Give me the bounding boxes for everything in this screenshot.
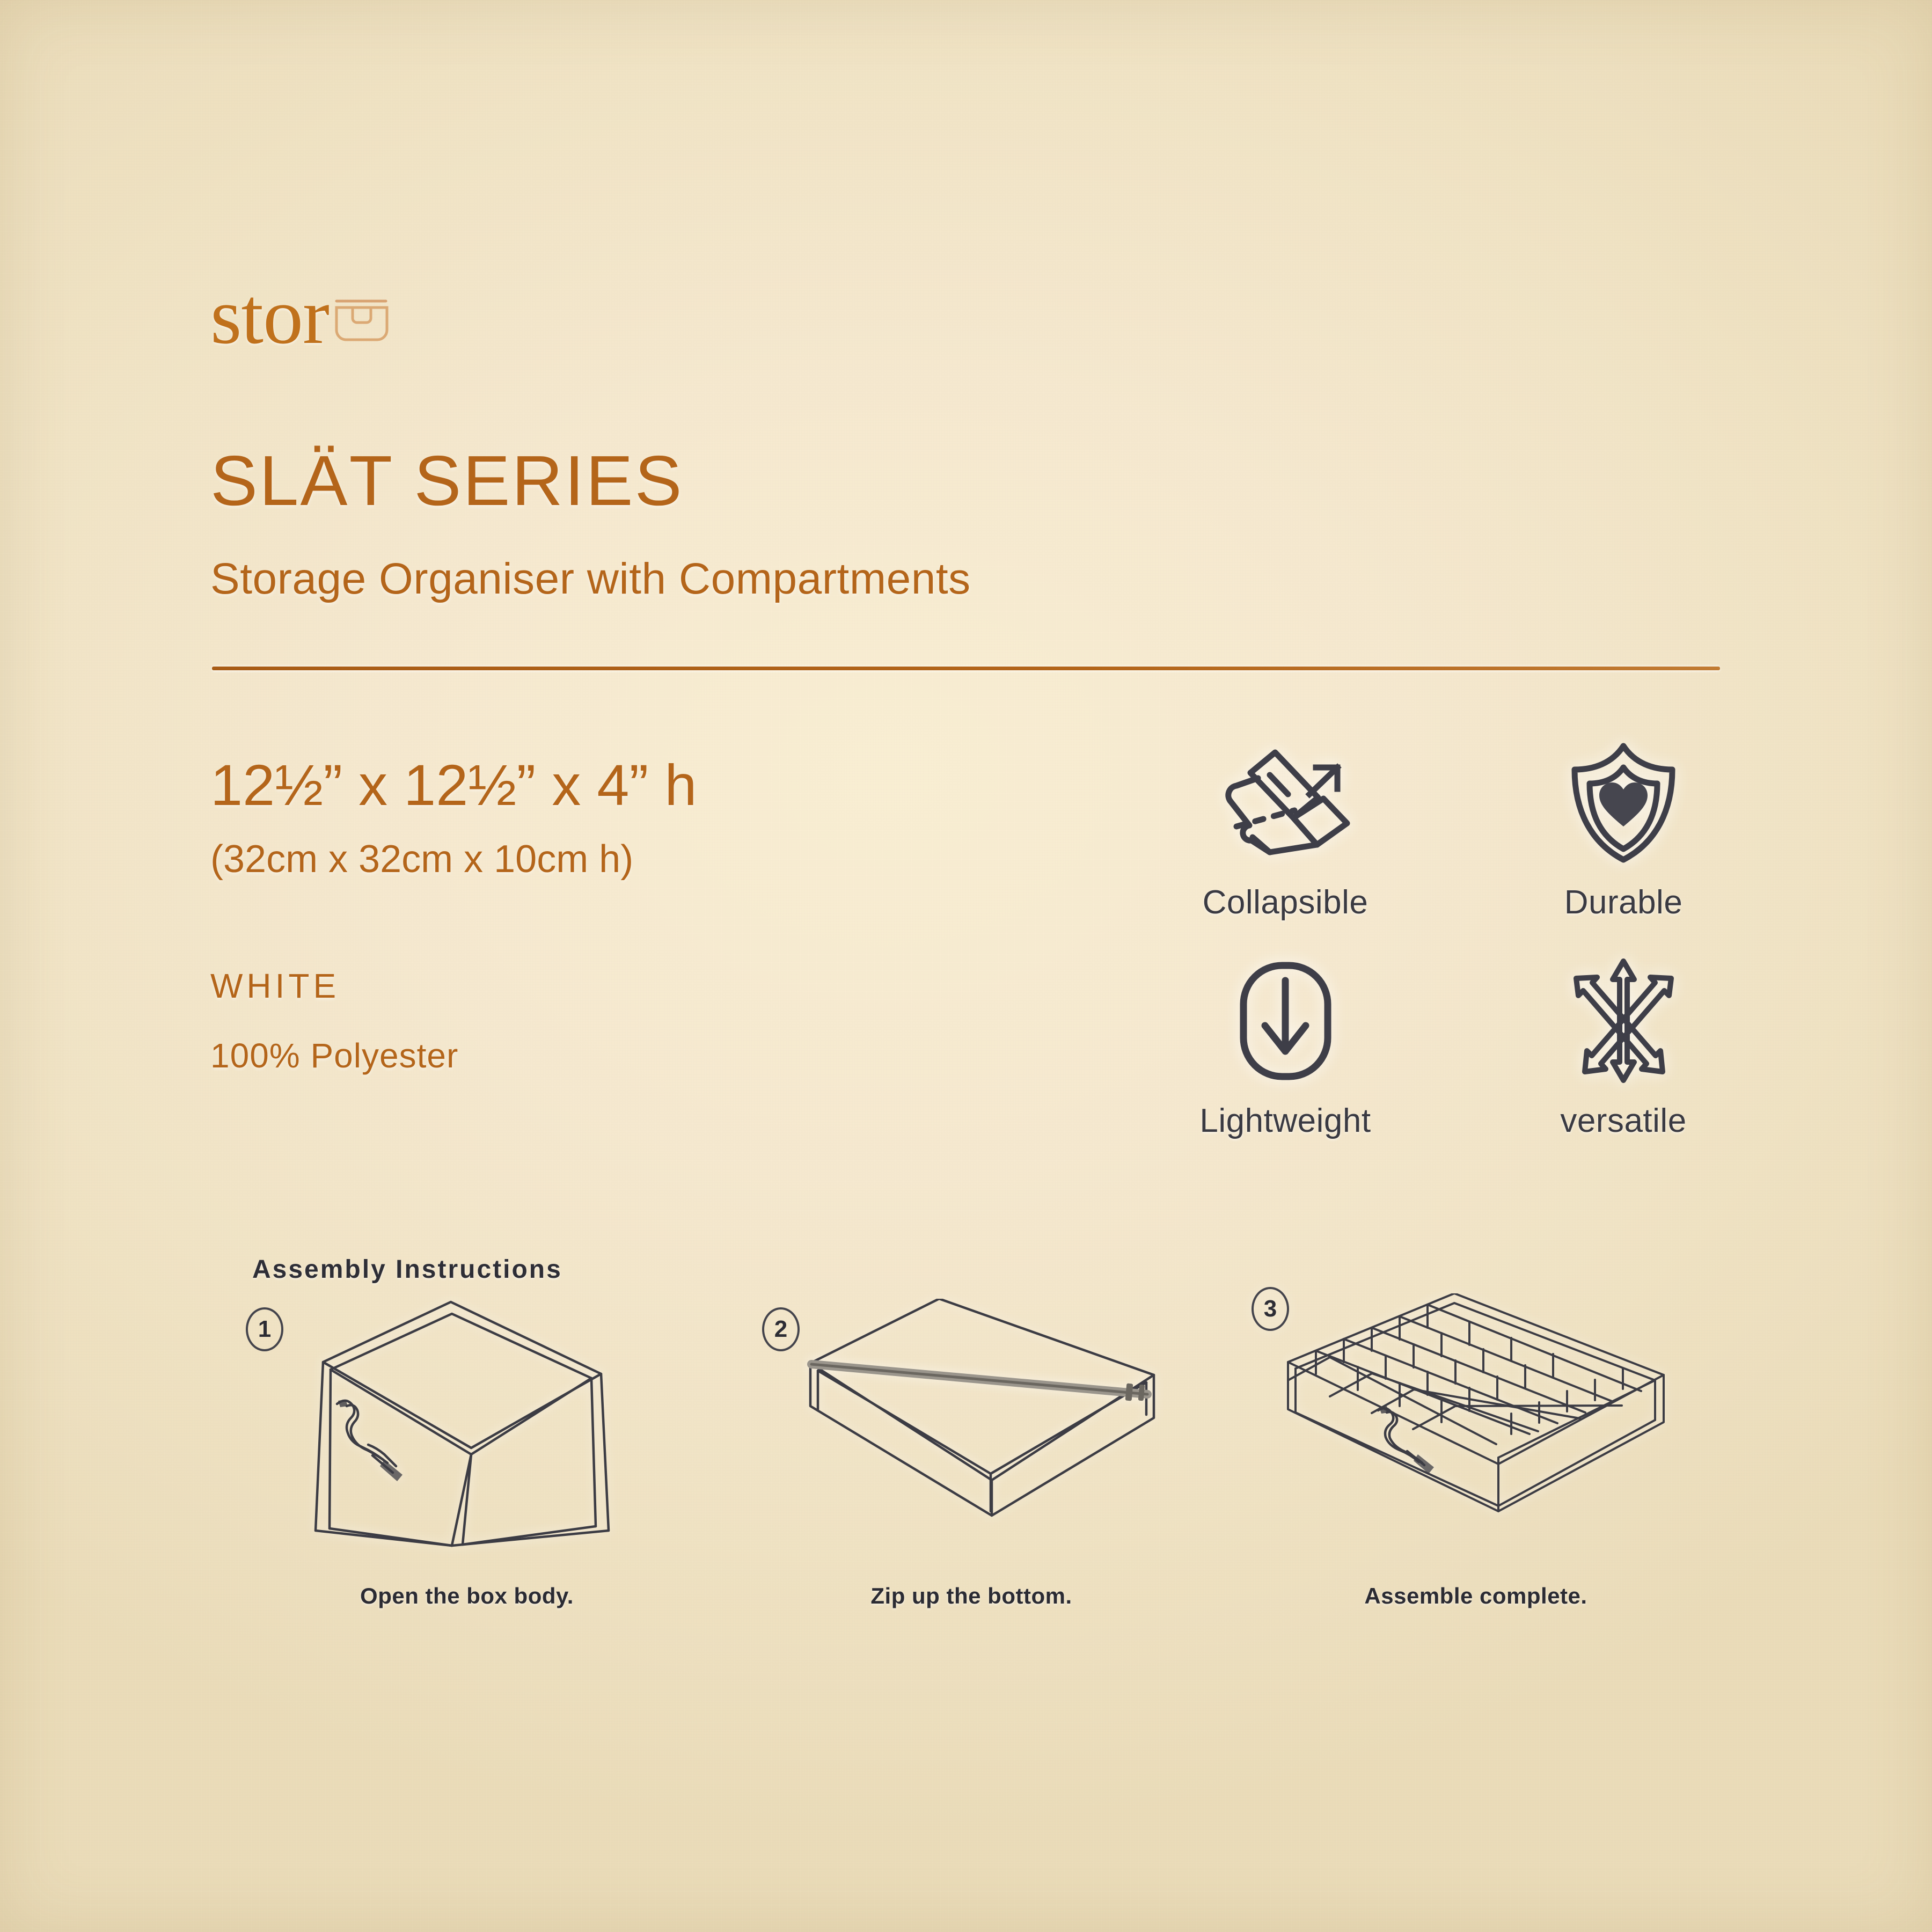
feature-grid: Collapsible Durable bbox=[1116, 735, 1792, 1140]
feature-label: versatile bbox=[1560, 1102, 1686, 1140]
compartment-grid-illustration: 3 bbox=[1267, 1288, 1685, 1589]
down-arrow-box-icon bbox=[1236, 954, 1335, 1088]
shield-heart-icon bbox=[1566, 735, 1681, 869]
zip-bottom-illustration bbox=[762, 1288, 1181, 1589]
assembly-step: 3 bbox=[1224, 1288, 1728, 1609]
feature-collapsible: Collapsible bbox=[1116, 735, 1454, 921]
assembly-steps: 1 bbox=[215, 1288, 1728, 1609]
feature-durable: Durable bbox=[1454, 735, 1792, 921]
assembly-step: 2 bbox=[719, 1288, 1224, 1609]
brand-wordmark: stor bbox=[210, 279, 329, 353]
feature-label: Durable bbox=[1564, 883, 1683, 921]
feature-label: Lightweight bbox=[1199, 1102, 1371, 1140]
material-label: 100% Polyester bbox=[210, 1036, 458, 1075]
assembly-heading: Assembly Instructions bbox=[252, 1255, 562, 1284]
multi-direction-arrows-icon bbox=[1561, 954, 1687, 1088]
collapsible-fold-icon bbox=[1218, 735, 1352, 869]
feature-label: Collapsible bbox=[1203, 883, 1368, 921]
step-number-badge: 3 bbox=[1252, 1287, 1289, 1331]
assembly-step: 1 bbox=[215, 1288, 719, 1609]
brand-logo: stor bbox=[210, 279, 391, 353]
feature-lightweight: Lightweight bbox=[1116, 954, 1454, 1140]
header-divider bbox=[212, 667, 1720, 670]
product-label-page: stor SLÄT SERIES Storage Organiser with … bbox=[0, 0, 1932, 1932]
dimensions-metric: (32cm x 32cm x 10cm h) bbox=[210, 837, 633, 881]
page-subtitle: Storage Organiser with Compartments bbox=[210, 554, 971, 604]
page-title: SLÄT SERIES bbox=[210, 440, 684, 521]
storage-box-icon bbox=[332, 287, 391, 349]
dimensions-imperial: 12½” x 12½” x 4” h bbox=[210, 751, 697, 818]
colour-label: WHITE bbox=[210, 966, 340, 1006]
open-box-illustration bbox=[258, 1288, 676, 1589]
feature-versatile: versatile bbox=[1454, 954, 1792, 1140]
